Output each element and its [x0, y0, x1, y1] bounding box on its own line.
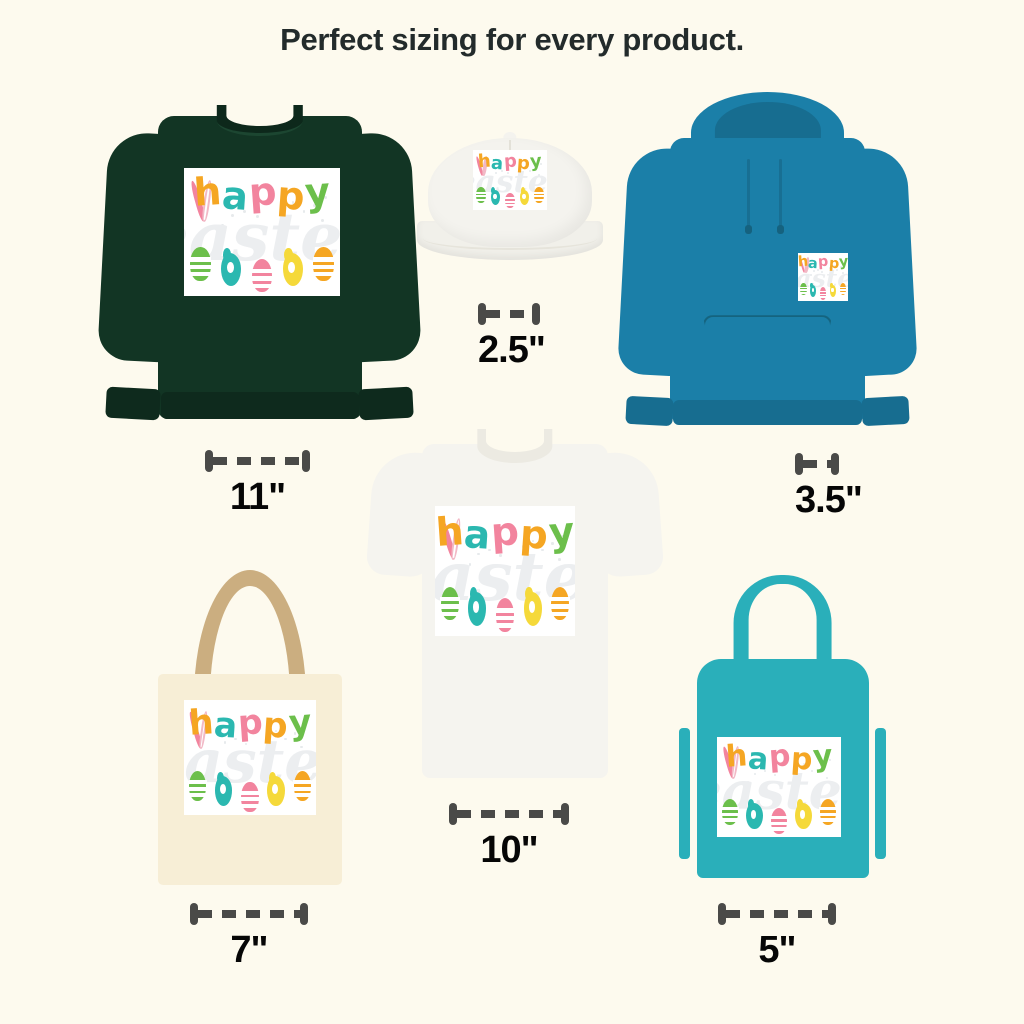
happy-letter-h-0: h [435, 512, 465, 553]
egg-stripe [839, 292, 846, 294]
ruler-dashes-icon [198, 910, 300, 918]
egg-stripe [241, 804, 260, 808]
happy-letter-p-2: p [817, 255, 828, 270]
egg-stripe [189, 272, 211, 276]
egg-green-striped [800, 283, 807, 295]
measurement-label-cap: 2.5" [478, 329, 540, 372]
sweatshirt-hem [161, 392, 359, 420]
egg-stripe [189, 265, 211, 269]
egg-stripe [770, 816, 787, 819]
ruler-cap-left-icon [190, 903, 198, 925]
ruler-bar-cap [478, 303, 540, 325]
ruler-cap-left-icon [718, 903, 726, 925]
sweatshirt-collar-opening [226, 105, 293, 126]
happy-letter-h-0: h [725, 741, 748, 772]
egg-stripe [495, 608, 515, 612]
apron-left-tie [679, 728, 690, 859]
sweatshirt-left-cuff [106, 387, 162, 421]
egg-stripe [189, 257, 211, 261]
happy-letter-p-2: p [768, 741, 792, 772]
hoodie-drawstring-tip [745, 225, 752, 234]
ruler-bar-sweatshirt [205, 450, 310, 472]
print-artwork-sweatshirt: easterhappy [184, 168, 340, 296]
egg-stripe [293, 780, 312, 784]
happy-letter-h-0: h [193, 173, 223, 213]
egg-stripe [495, 616, 515, 620]
happy-word: happy [189, 706, 310, 743]
infographic-canvas: Perfect sizing for every product. easter… [0, 0, 1024, 1024]
egg-stripe [505, 201, 515, 203]
egg-stripe [550, 604, 570, 608]
egg-stripe [189, 787, 208, 791]
print-artwork-hoodie: easterhappy [798, 253, 848, 301]
egg-teal-blob [746, 803, 762, 829]
ruler-cap-right-icon [828, 903, 836, 925]
hoodie-kangaroo-pocket [703, 315, 833, 393]
product-tshirt[interactable]: easterhappy [370, 418, 660, 793]
egg-pink-striped [241, 782, 258, 812]
hoodie-drawstring-right [779, 159, 782, 230]
ruler-dashes-icon [213, 457, 302, 465]
ruler-bar-tote [190, 903, 308, 925]
measurement-apron: 5" [718, 903, 836, 972]
easter-eggs-row [441, 583, 570, 632]
ruler-cap-right-icon [831, 453, 839, 475]
product-hoodie[interactable]: easterhappy [620, 88, 915, 443]
happy-letter-p-3: p [828, 256, 839, 271]
print-artwork-tshirt: easterhappy [435, 506, 575, 636]
egg-green-striped [441, 587, 459, 621]
egg-stripe [313, 272, 335, 276]
egg-teal-blob [491, 190, 501, 206]
egg-stripe [476, 195, 486, 197]
ruler-cap-right-icon [302, 450, 310, 472]
measurement-hoodie: 3.5" [795, 453, 839, 522]
egg-yellow-blob [283, 253, 303, 286]
ruler-cap-left-icon [795, 453, 803, 475]
easter-eggs-row [190, 244, 334, 293]
happy-letter-h-0: h [477, 153, 491, 172]
egg-yellow-blob [520, 190, 530, 206]
measurement-sweatshirt: 11" [205, 450, 310, 519]
egg-stripe [550, 612, 570, 616]
happy-letter-a-1: a [221, 177, 250, 217]
egg-stripe [313, 257, 335, 261]
sweatshirt-right-cuff [358, 387, 414, 421]
happy-letter-y-4: y [812, 741, 834, 772]
egg-stripe [819, 807, 836, 810]
happy-letter-p-3: p [275, 177, 305, 217]
egg-stripe [440, 612, 460, 616]
egg-orange-striped [294, 771, 311, 801]
page-title: Perfect sizing for every product. [0, 22, 1024, 58]
egg-teal-blob [468, 592, 486, 626]
measurement-tote: 7" [190, 903, 308, 972]
egg-stripe [189, 793, 208, 797]
egg-stripe [241, 791, 260, 795]
egg-stripe [770, 822, 787, 825]
product-tote[interactable]: easterhappy [150, 570, 350, 885]
egg-yellow-blob [524, 592, 542, 626]
egg-stripe [293, 793, 312, 797]
happy-letter-p-3: p [262, 708, 289, 744]
product-apron[interactable]: easterhappy [675, 572, 890, 884]
egg-orange-striped [840, 283, 847, 295]
happy-letter-h-0: h [188, 705, 215, 741]
happy-word: happy [190, 174, 334, 215]
ruler-cap-left-icon [449, 803, 457, 825]
ruler-cap-right-icon [532, 303, 540, 325]
ruler-bar-hoodie [795, 453, 839, 475]
ruler-bar-apron [718, 903, 836, 925]
egg-orange-striped [534, 187, 544, 203]
happy-letter-p-3: p [516, 154, 530, 173]
egg-stripe [839, 289, 846, 291]
egg-stripe [293, 787, 312, 791]
measurement-label-sweatshirt: 11" [205, 476, 310, 519]
measurement-tshirt: 10" [449, 803, 569, 872]
print-artwork-tote: easterhappy [184, 700, 316, 815]
ruler-dashes-icon [726, 910, 828, 918]
egg-stripe [476, 192, 486, 194]
happy-letter-p-3: p [790, 744, 814, 775]
ruler-bar-tshirt [449, 803, 569, 825]
ruler-dashes-icon [803, 460, 831, 468]
egg-stripe [534, 199, 544, 201]
ruler-dashes-icon [486, 310, 532, 318]
egg-orange-striped [820, 799, 836, 825]
egg-stripe [534, 192, 544, 194]
egg-teal-blob [215, 776, 232, 806]
apron-right-tie [875, 728, 886, 859]
apron-neck-opening [748, 584, 817, 662]
egg-orange-striped [313, 247, 333, 280]
easter-eggs-row [800, 281, 846, 299]
hoodie-hem [673, 400, 862, 425]
ruler-cap-right-icon [561, 803, 569, 825]
egg-stripe [440, 597, 460, 601]
egg-teal-blob [810, 285, 817, 297]
egg-stripe [839, 287, 846, 289]
egg-stripe [534, 195, 544, 197]
happy-letter-y-4: y [530, 153, 543, 172]
egg-stripe [189, 780, 208, 784]
egg-orange-striped [551, 587, 569, 621]
egg-stripe [251, 284, 273, 288]
egg-pink-striped [252, 259, 272, 292]
egg-pink-striped [505, 193, 515, 209]
hoodie-drawstring-left [747, 159, 750, 230]
measurement-cap: 2.5" [478, 303, 540, 372]
egg-stripe [241, 797, 260, 801]
egg-yellow-blob [267, 776, 284, 806]
print-artwork-cap: easterhappy [473, 150, 547, 210]
print-artwork-apron: easterhappy [717, 737, 841, 837]
happy-letter-p-2: p [490, 512, 521, 553]
egg-stripe [800, 287, 807, 289]
egg-stripe [550, 597, 570, 601]
hoodie-right-cuff [861, 396, 910, 427]
egg-stripe [820, 296, 827, 298]
ruler-cap-right-icon [300, 903, 308, 925]
egg-green-striped [476, 187, 486, 203]
product-cap[interactable]: easterhappy [415, 125, 605, 290]
happy-letter-a-1: a [213, 708, 239, 744]
happy-letter-a-1: a [463, 516, 492, 557]
happy-letter-a-1: a [747, 744, 769, 775]
egg-stripe [251, 269, 273, 273]
happy-letter-p-2: p [237, 705, 264, 741]
egg-stripe [819, 818, 836, 821]
egg-stripe [819, 813, 836, 816]
egg-pink-striped [771, 808, 787, 834]
product-sweatshirt[interactable]: easterhappy [100, 95, 420, 440]
egg-stripe [721, 818, 738, 821]
tshirt-collar-opening [486, 429, 544, 452]
egg-teal-blob [221, 253, 241, 286]
happy-letter-y-4: y [547, 512, 575, 553]
egg-green-striped [722, 799, 738, 825]
happy-letter-y-4: y [304, 174, 332, 214]
happy-word: happy [800, 255, 846, 270]
happy-word: happy [722, 742, 836, 774]
easter-eggs-row [722, 796, 836, 834]
measurement-label-tote: 7" [190, 929, 308, 972]
egg-stripe [495, 623, 515, 627]
egg-stripe [440, 604, 460, 608]
happy-letter-y-4: y [839, 255, 848, 270]
egg-green-striped [189, 771, 206, 801]
egg-green-striped [190, 247, 210, 280]
egg-stripe [800, 289, 807, 291]
egg-pink-striped [820, 287, 827, 299]
egg-stripe [313, 265, 335, 269]
ruler-cap-left-icon [478, 303, 486, 325]
egg-stripe [820, 294, 827, 296]
egg-yellow-blob [830, 285, 837, 297]
ruler-cap-left-icon [205, 450, 213, 472]
happy-letter-y-4: y [287, 705, 312, 741]
egg-pink-striped [496, 598, 514, 632]
ruler-dashes-icon [457, 810, 561, 818]
egg-stripe [800, 292, 807, 294]
easter-eggs-row [189, 768, 310, 812]
egg-stripe [721, 807, 738, 810]
happy-letter-p-2: p [503, 153, 517, 172]
happy-letter-a-1: a [808, 257, 819, 272]
hoodie-drawstring-tip [777, 225, 784, 234]
egg-stripe [505, 197, 515, 199]
happy-letter-a-1: a [491, 154, 504, 173]
egg-stripe [770, 827, 787, 830]
happy-word: happy [476, 153, 544, 172]
happy-letter-p-3: p [519, 515, 550, 556]
egg-stripe [820, 291, 827, 293]
egg-yellow-blob [795, 803, 811, 829]
measurement-label-hoodie: 3.5" [795, 479, 839, 522]
happy-word: happy [441, 513, 570, 555]
measurement-label-apron: 5" [718, 929, 836, 972]
egg-stripe [476, 199, 486, 201]
measurement-label-tshirt: 10" [449, 829, 569, 872]
easter-eggs-row [476, 185, 544, 208]
egg-stripe [505, 204, 515, 206]
egg-stripe [251, 276, 273, 280]
happy-letter-p-2: p [247, 173, 277, 213]
egg-stripe [721, 813, 738, 816]
